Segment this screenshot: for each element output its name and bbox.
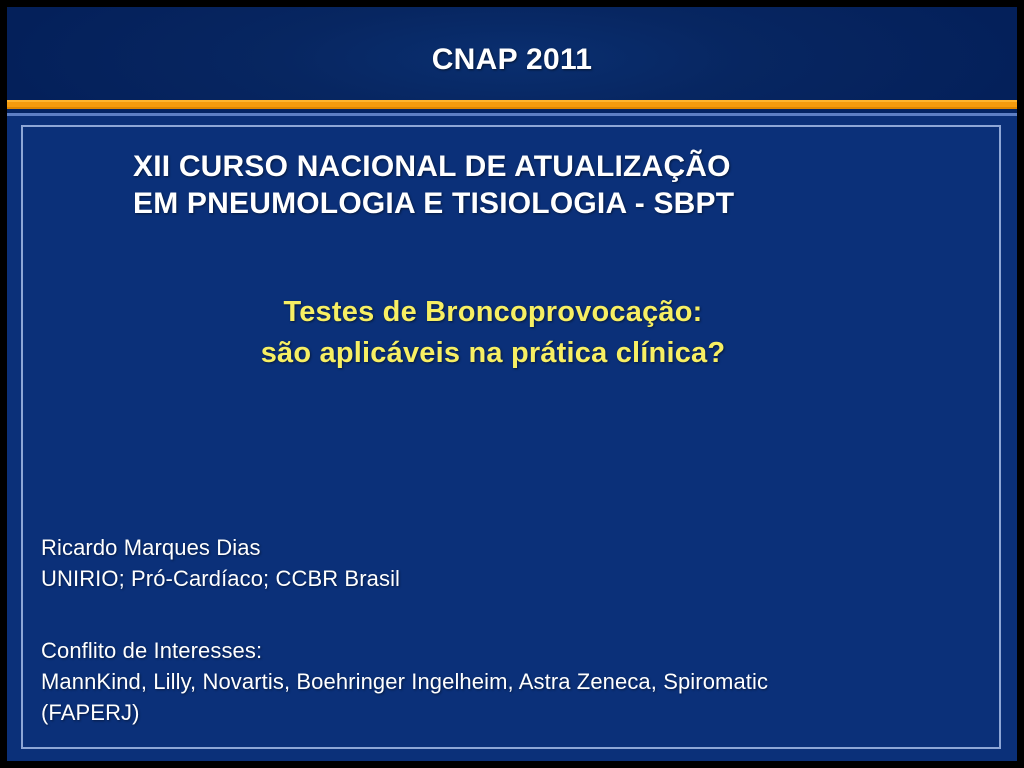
presentation-slide: CNAP 2011 XII CURSO NACIONAL DE ATUALIZA… — [0, 0, 1024, 768]
presenter-affiliations: UNIRIO; Pró-Cardíaco; CCBR Brasil — [41, 563, 1001, 594]
presentation-subtitle-line-1: Testes de Broncoprovocação: — [23, 292, 963, 333]
conflict-of-interest: Conflito de Interesses: MannKind, Lilly,… — [41, 635, 1001, 728]
conference-title: CNAP 2011 — [7, 43, 1017, 77]
content-frame-border: XII CURSO NACIONAL DE ATUALIZAÇÃO EM PNE… — [21, 125, 1001, 749]
presentation-subtitle-line-2: são aplicáveis na prática clínica? — [23, 333, 963, 374]
conflict-of-interest-companies: MannKind, Lilly, Novartis, Boehringer In… — [41, 666, 1001, 697]
slide-body: XII CURSO NACIONAL DE ATUALIZAÇÃO EM PNE… — [7, 116, 1017, 761]
presenter-name: Ricardo Marques Dias — [41, 532, 1001, 563]
course-headline-line-1: XII CURSO NACIONAL DE ATUALIZAÇÃO — [133, 148, 953, 185]
orange-divider-rule — [7, 100, 1017, 109]
course-headline: XII CURSO NACIONAL DE ATUALIZAÇÃO EM PNE… — [133, 148, 953, 222]
course-headline-line-2: EM PNEUMOLOGIA E TISIOLOGIA - SBPT — [133, 185, 953, 222]
conflict-of-interest-heading: Conflito de Interesses: — [41, 635, 1001, 666]
presenter-info: Ricardo Marques Dias UNIRIO; Pró-Cardíac… — [41, 532, 1001, 594]
presentation-subtitle: Testes de Broncoprovocação: são aplicáve… — [23, 292, 999, 374]
slide-header-band: CNAP 2011 — [7, 7, 1017, 100]
conflict-of-interest-funding: (FAPERJ) — [41, 697, 1001, 728]
